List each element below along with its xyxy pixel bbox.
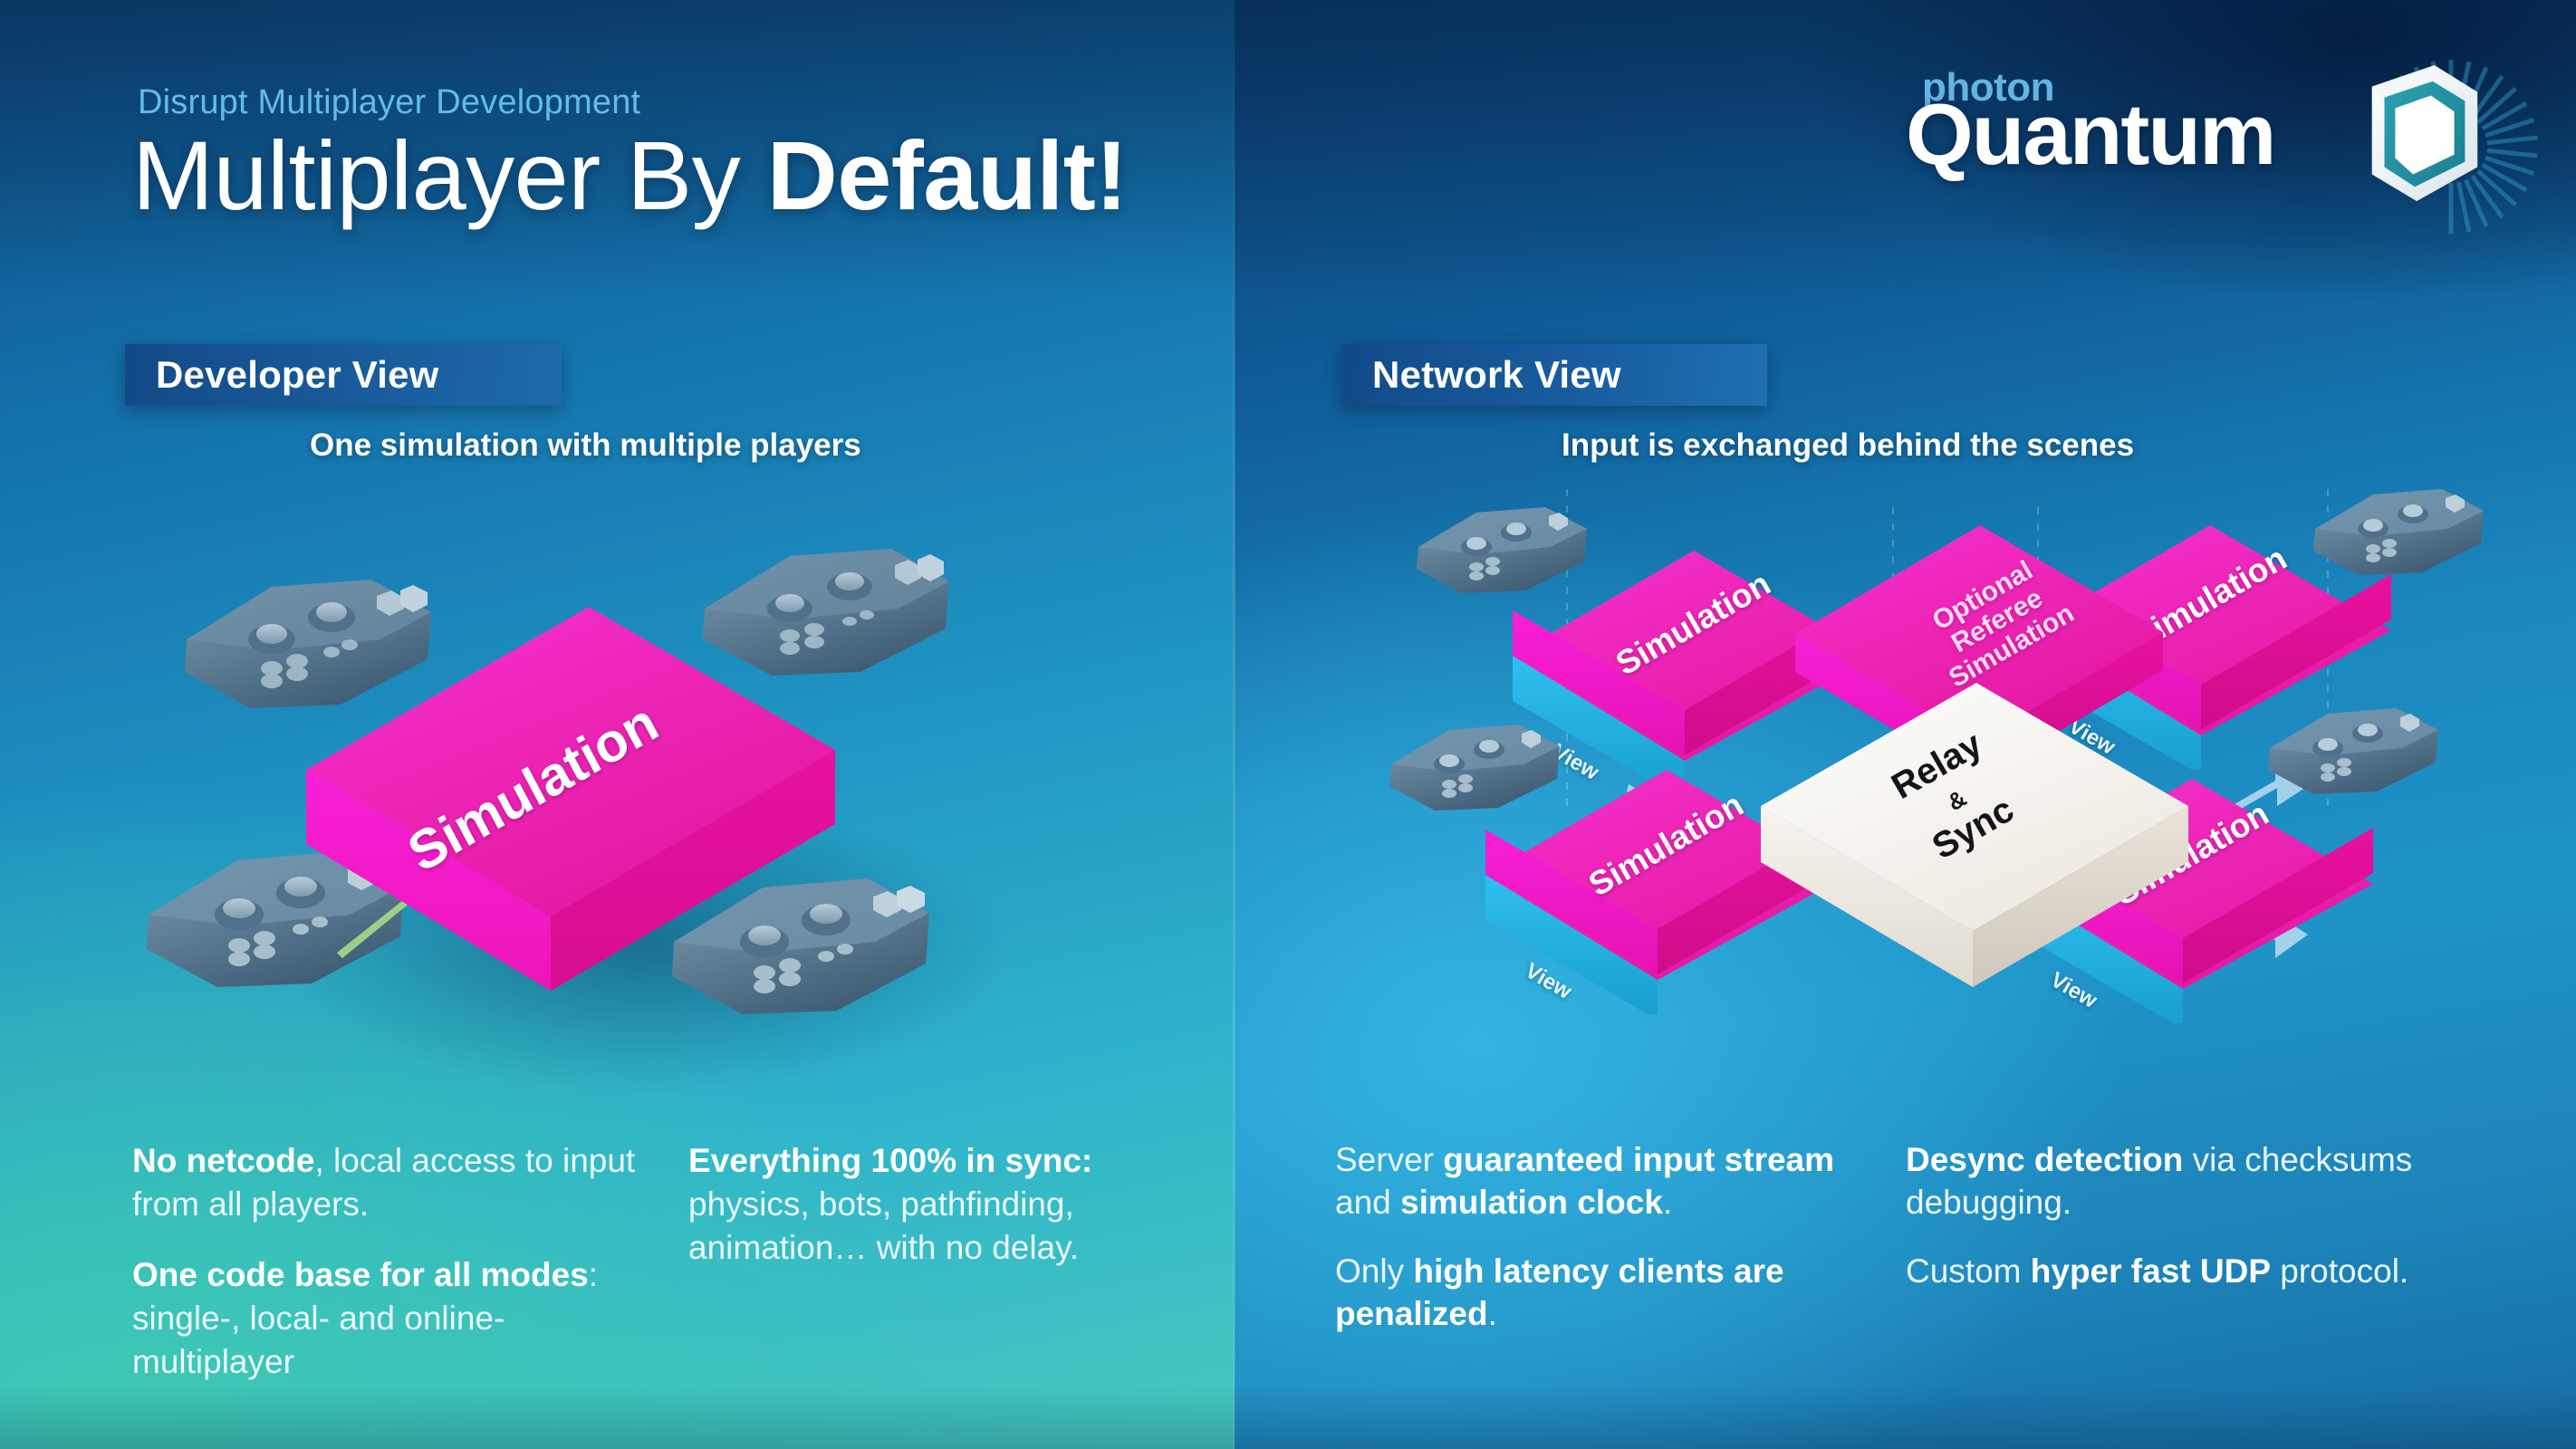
- paragraph-rest: .: [1488, 1295, 1497, 1332]
- panel-divider: [1233, 0, 1235, 1449]
- simulation-block: [290, 598, 851, 996]
- paragraph: One code base for all modes: single-, lo…: [132, 1253, 658, 1384]
- paragraph: Custom hyper fast UDP protocol.: [1906, 1251, 2467, 1293]
- section-badge-developer-view: Developer View: [125, 344, 562, 406]
- paragraph-mid: and: [1335, 1184, 1400, 1221]
- section-badge-developer-label: Developer View: [156, 353, 439, 397]
- slide-kicker: Disrupt Multiplayer Development: [138, 83, 640, 122]
- logo-quantum-text: Quantum: [1906, 85, 2274, 185]
- gamepad-icon: [2255, 690, 2446, 817]
- paragraph-bold: guaranteed input stream: [1443, 1141, 1834, 1178]
- paragraph: Everything 100% in sync: physics, bots, …: [688, 1139, 1159, 1270]
- relay-sync-block: [1748, 670, 2201, 987]
- paragraph: Server guaranteed input stream and simul…: [1335, 1139, 1879, 1223]
- page-title-bold: Default!: [767, 120, 1128, 230]
- gamepad-icon: [2301, 471, 2491, 598]
- developer-text-column-1: No netcode, local access to input from a…: [132, 1139, 658, 1411]
- network-text-column-1: Server guaranteed input stream and simul…: [1335, 1139, 1879, 1362]
- paragraph-pre: Custom: [1906, 1252, 2031, 1290]
- network-text-column-2: Desync detection via checksums debugging…: [1906, 1139, 2467, 1320]
- paragraph-bold: hyper fast UDP: [2031, 1252, 2271, 1290]
- section-subhead-network: Input is exchanged behind the scenes: [1562, 427, 2134, 464]
- paragraph-bold: One code base for all modes: [132, 1256, 589, 1293]
- photon-quantum-logo: photon Quantum: [1879, 27, 2567, 199]
- paragraph-bold: No netcode: [132, 1142, 314, 1179]
- paragraph-bold: Desync detection: [1906, 1141, 2183, 1178]
- paragraph-rest: .: [1663, 1184, 1672, 1221]
- paragraph-bold-2: simulation clock: [1400, 1184, 1663, 1221]
- developer-text-column-2: Everything 100% in sync: physics, bots, …: [688, 1139, 1159, 1297]
- developer-view-diagram: Simulation: [163, 525, 1177, 1105]
- page-title-light: Multiplayer By: [132, 120, 767, 230]
- page-title: Multiplayer By Default!: [132, 123, 1128, 229]
- network-view-diagram: Simulation View Simulation View: [1386, 480, 2527, 1114]
- bottom-fade: [0, 1386, 2576, 1449]
- paragraph-pre: Server: [1335, 1141, 1443, 1178]
- gamepad-icon: [1404, 489, 1594, 616]
- paragraph-rest: physics, bots, pathfinding, animation… w…: [688, 1185, 1079, 1266]
- section-badge-network-view: Network View: [1341, 344, 1767, 406]
- quantum-hexagon-icon: [2353, 62, 2489, 206]
- paragraph: No netcode, local access to input from a…: [132, 1139, 658, 1226]
- section-subhead-developer: One simulation with multiple players: [310, 427, 861, 464]
- slide-root: Disrupt Multiplayer Development Multipla…: [0, 0, 2576, 1449]
- paragraph: Only high latency clients are penalized.: [1335, 1251, 1879, 1335]
- paragraph-rest: protocol.: [2271, 1252, 2408, 1290]
- paragraph-bold: Everything 100% in sync:: [688, 1142, 1092, 1179]
- section-badge-network-label: Network View: [1372, 353, 1621, 397]
- paragraph: Desync detection via checksums debugging…: [1906, 1139, 2467, 1223]
- gamepad-icon: [1377, 706, 1567, 833]
- paragraph-pre: Only: [1335, 1252, 1413, 1290]
